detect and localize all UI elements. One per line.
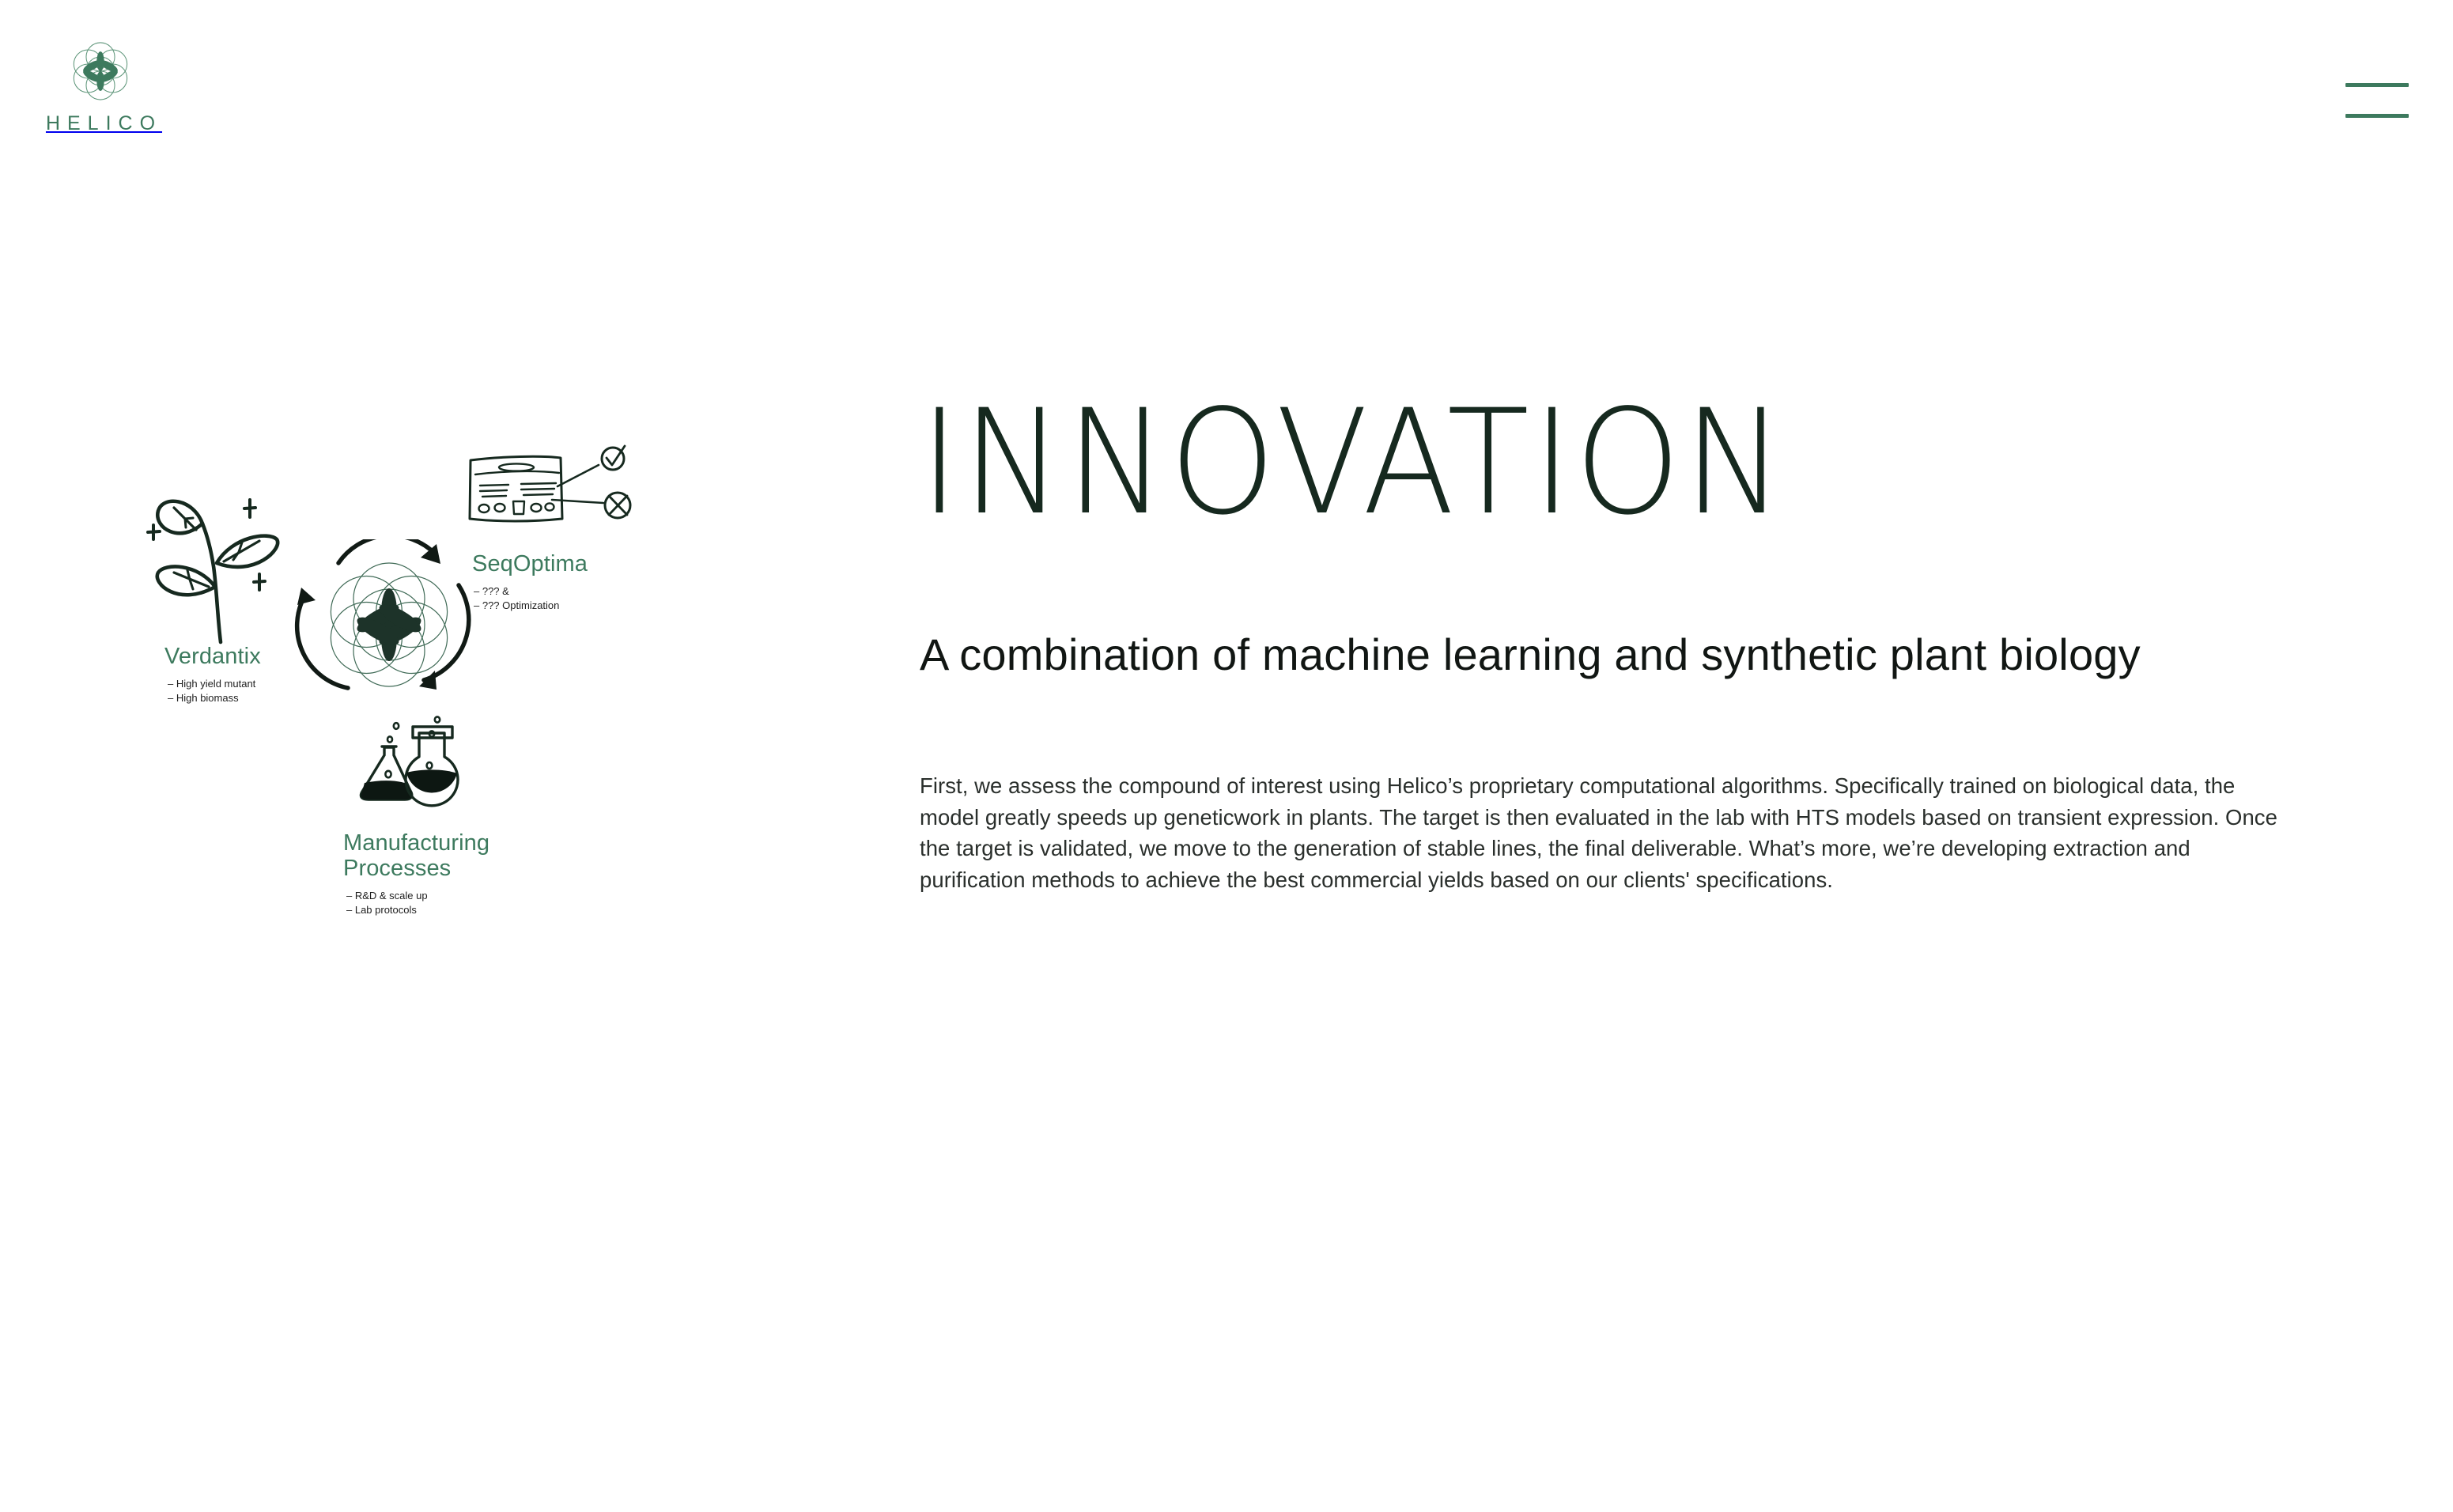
lab-flasks-icon	[338, 716, 465, 818]
site-header: HELICO	[0, 0, 2453, 190]
stage-bullets-manufacturing: – R&D & scale up – Lab protocols	[346, 889, 554, 918]
stage-bullets-verdantix: – High yield mutant – High biomass	[168, 677, 340, 706]
brand-logo[interactable]: HELICO	[41, 35, 160, 134]
stage-title-verdantix: Verdantix	[164, 644, 340, 670]
plant-sprig-icon	[139, 490, 289, 644]
flower-of-life-icon	[64, 35, 137, 108]
document-check-cross-icon	[463, 443, 644, 538]
process-diagram: Verdantix – High yield mutant – High bio…	[0, 443, 712, 949]
stage-bullets-seqoptima: – ??? & – ??? Optimization	[474, 584, 684, 614]
diagram-stage-seqoptima[interactable]: SeqOptima – ??? & – ??? Optimization	[463, 443, 684, 614]
main-content: INNOVATION A combination of machine lear…	[920, 395, 2296, 896]
diagram-stage-manufacturing[interactable]: Manufacturing Processes – R&D & scale up…	[332, 716, 554, 918]
menu-bar-bottom	[2345, 114, 2409, 118]
stage-title-seqoptima: SeqOptima	[472, 552, 684, 577]
stage-title-manufacturing: Manufacturing Processes	[343, 831, 554, 882]
brand-wordmark: HELICO	[39, 114, 162, 134]
menu-bar-top	[2345, 83, 2409, 87]
page-body-paragraph: First, we assess the compound of interes…	[920, 770, 2296, 897]
hamburger-menu-icon[interactable]	[2345, 83, 2409, 118]
page-title: INNOVATION	[920, 395, 2199, 531]
page-subtitle: A combination of machine learning and sy…	[920, 626, 2201, 683]
diagram-stage-verdantix[interactable]: Verdantix – High yield mutant – High bio…	[134, 490, 340, 706]
